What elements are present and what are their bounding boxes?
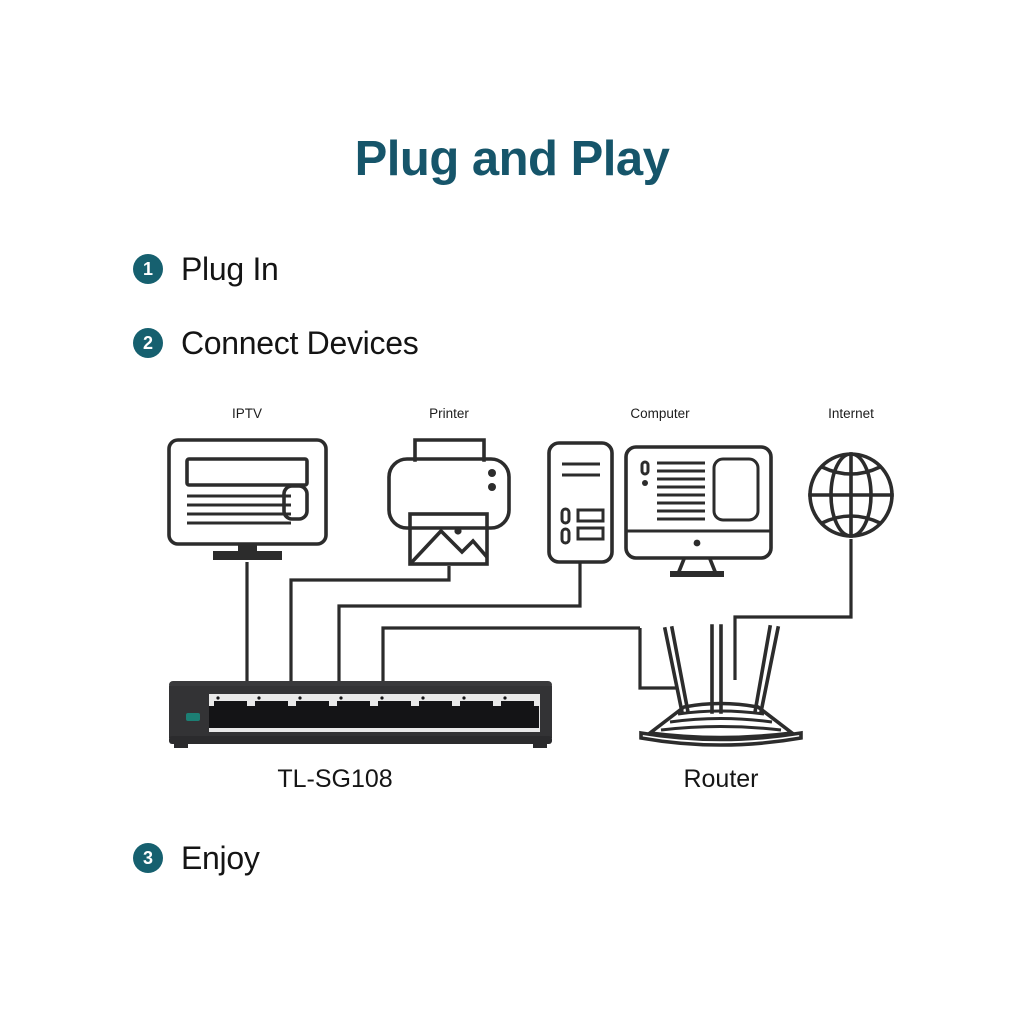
product-label-router: Router	[683, 765, 758, 793]
switch-port-1	[209, 696, 252, 728]
switch-port-3	[291, 696, 334, 728]
plug-and-play-infographic: Plug and Play 1 Plug In 2 Connect Device…	[0, 0, 1024, 1024]
internet-globe-icon	[810, 454, 892, 536]
router-device-icon	[641, 626, 801, 745]
switch-port-6	[414, 696, 457, 728]
page-title: Plug and Play	[0, 131, 1024, 187]
switch-port-5	[373, 696, 416, 728]
switch-port-4	[332, 696, 375, 728]
cable-group	[247, 539, 851, 690]
switch-status-led	[186, 713, 200, 721]
step-number-badge-2: 2	[133, 328, 163, 358]
step-item-enjoy: 3 Enjoy	[133, 842, 260, 874]
switch-port-2	[250, 696, 293, 728]
printer-device-icon	[389, 440, 509, 564]
step-number-badge-3: 3	[133, 843, 163, 873]
computer-monitor-device-icon	[626, 447, 771, 577]
network-switch-device	[169, 681, 552, 748]
cable-internet-to-router	[735, 539, 851, 680]
device-label-computer: Computer	[630, 406, 690, 421]
step-item-plug-in: 1 Plug In	[133, 253, 279, 285]
pc-tower-device-icon	[549, 443, 612, 562]
product-label-switch: TL-SG108	[277, 765, 392, 793]
device-label-internet: Internet	[828, 406, 874, 421]
step-label-enjoy: Enjoy	[181, 842, 260, 874]
switch-port-7	[455, 696, 498, 728]
device-label-printer: Printer	[429, 406, 469, 421]
step-number-badge-1: 1	[133, 254, 163, 284]
device-label-iptv: IPTV	[232, 406, 262, 421]
step-item-connect-devices: 2 Connect Devices	[133, 327, 418, 359]
step-label-connect-devices: Connect Devices	[181, 327, 418, 359]
cable-computer-to-switch	[383, 628, 640, 690]
step-label-plug-in: Plug In	[181, 253, 279, 285]
switch-port-8	[496, 696, 539, 728]
iptv-device-icon	[169, 440, 326, 560]
